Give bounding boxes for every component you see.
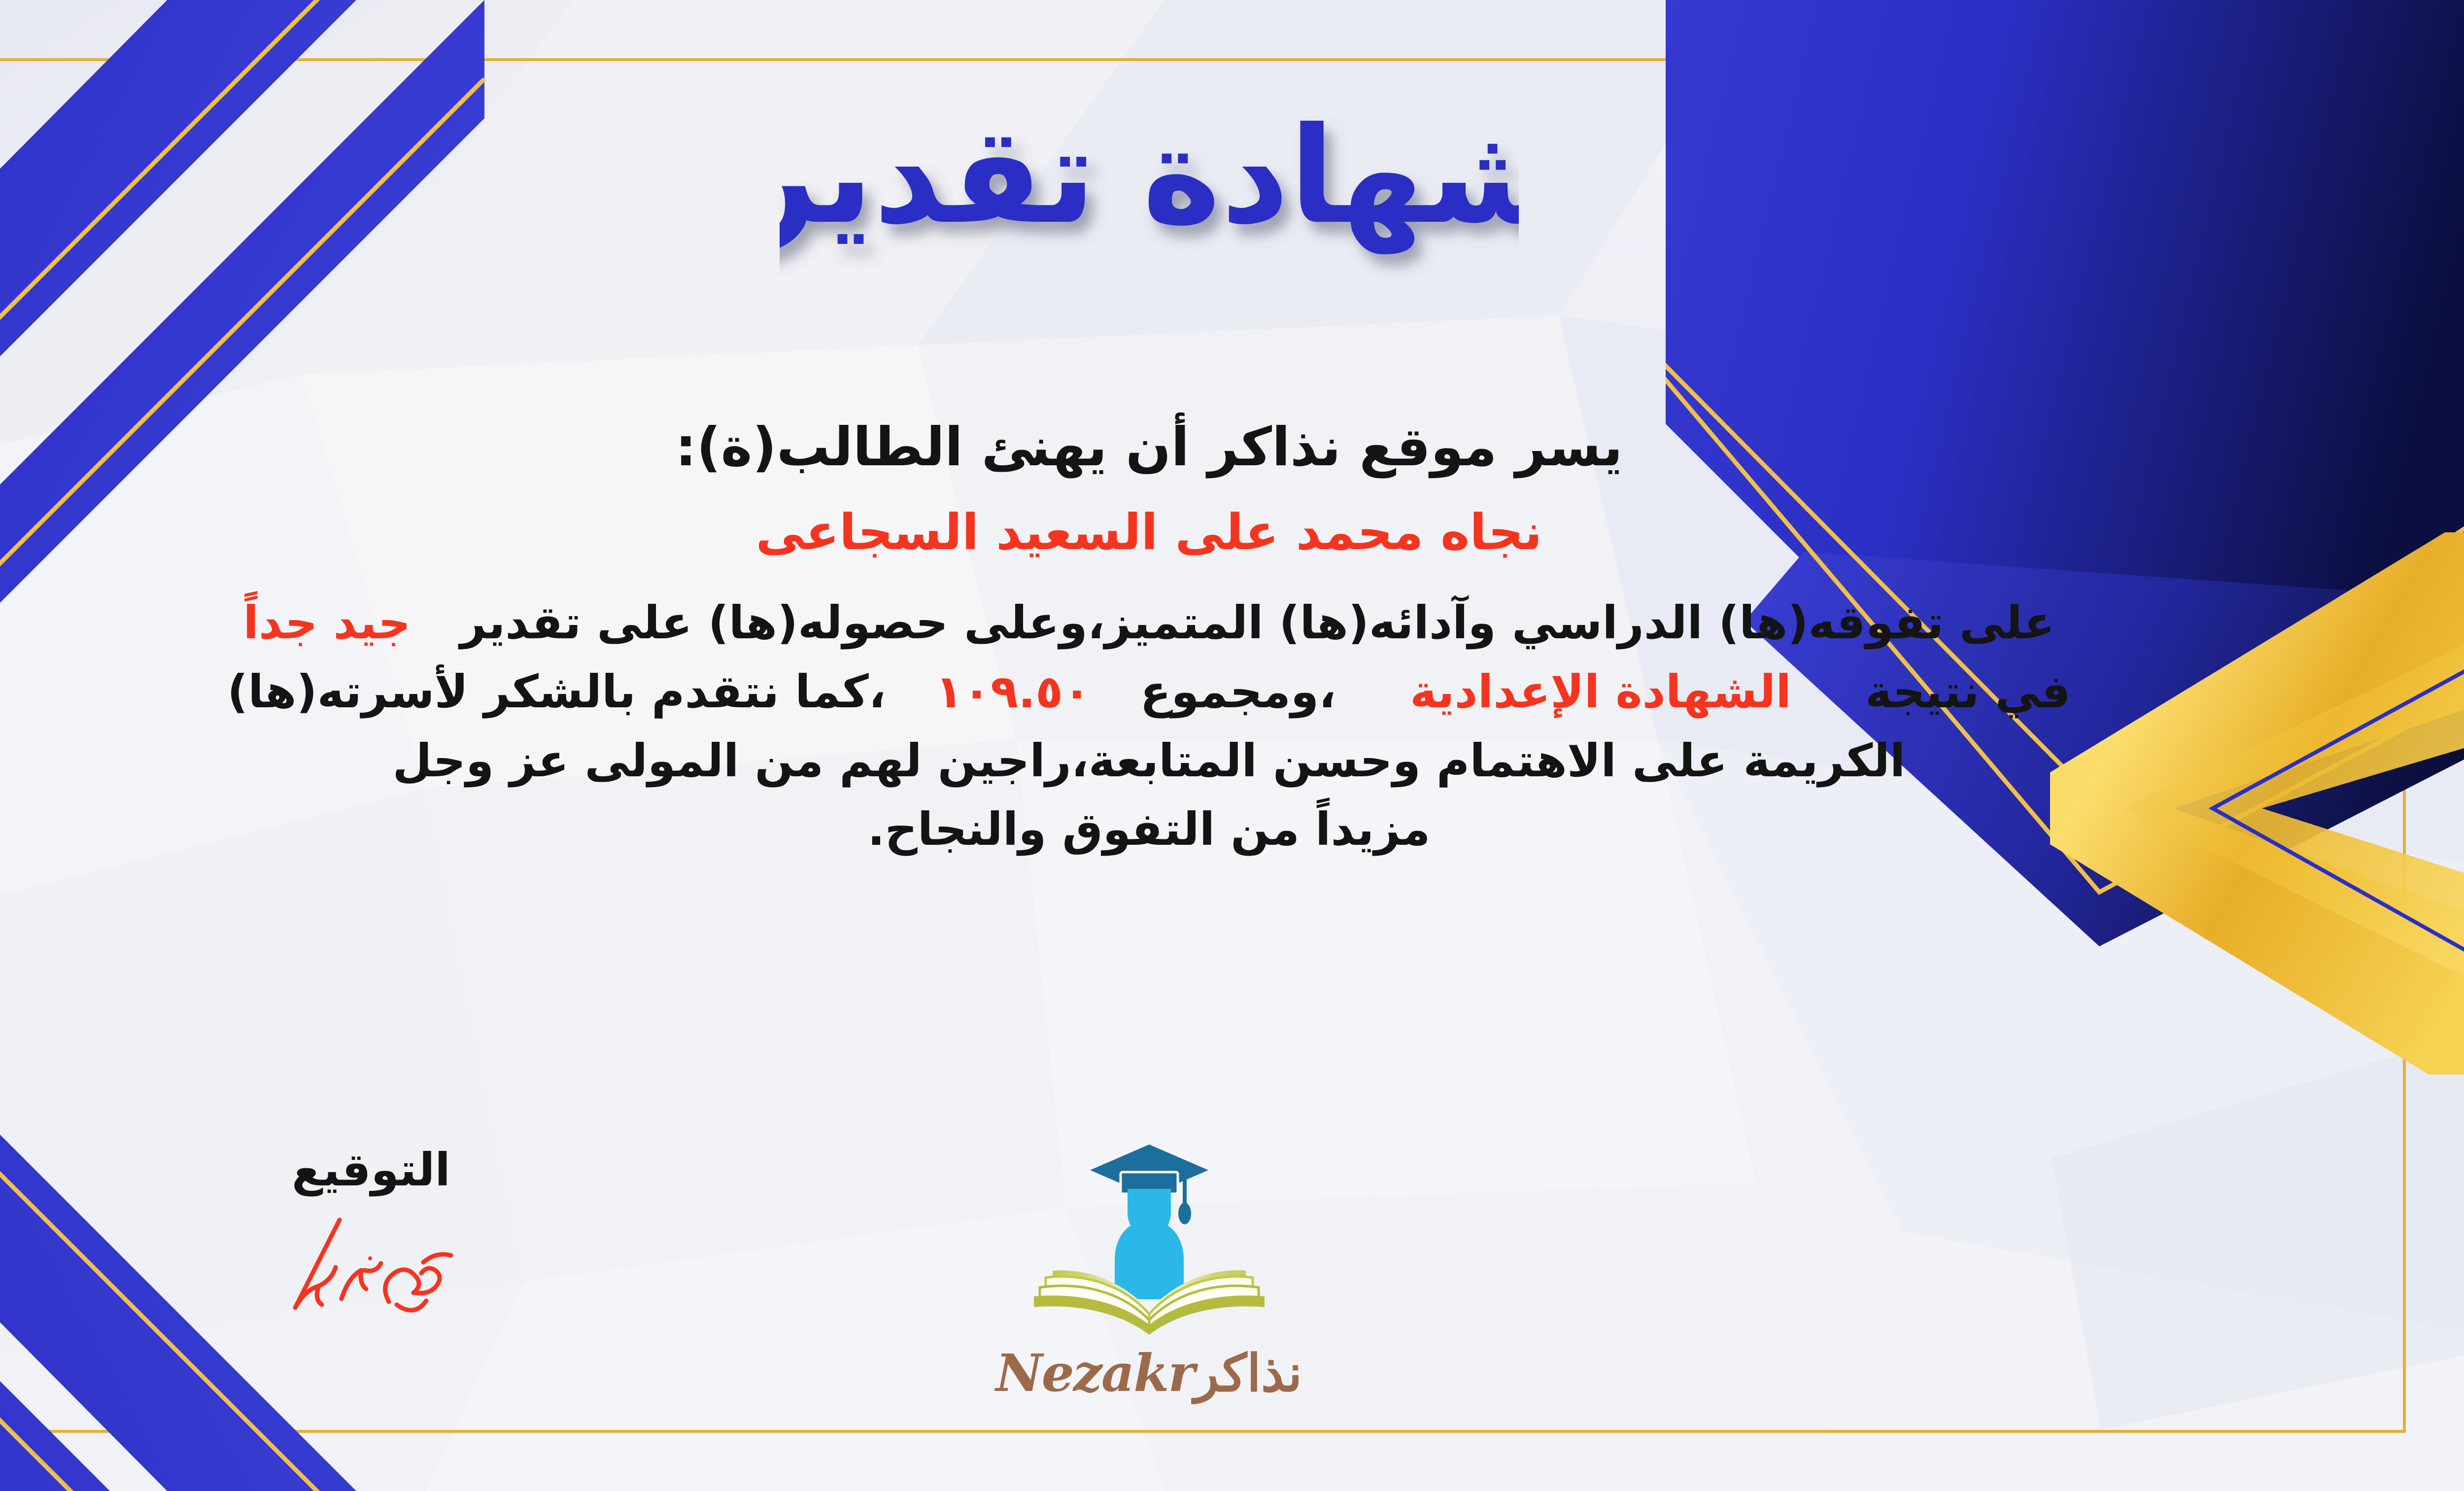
- student-figure-icon: [1115, 1189, 1184, 1299]
- paragraph-line2-prefix: في نتيجة: [1865, 665, 2071, 718]
- signature-label: التوقيع: [218, 1144, 524, 1196]
- certificate-canvas: شهادة تقدير يسر موقع نذاكر أن يهنئ الطال…: [0, 0, 2464, 1491]
- total-score: ١٠٩.٥٠: [935, 665, 1091, 718]
- paragraph-line2-suffix: ،كما نتقدم بالشكر لأسرته(ها): [227, 665, 886, 718]
- paragraph-line1-text: على تفوقه(ها) الدراسي وآدائه(ها) المتميز…: [460, 596, 2054, 649]
- paragraph-line2-mid: ،ومجموع: [1140, 665, 1336, 718]
- certificate-title-wrap: شهادة تقدير: [0, 74, 2464, 283]
- certificate-body: يسر موقع نذاكر أن يهنئ الطالب(ة): نجاه م…: [0, 414, 2316, 864]
- logo-wordmark: نذاكرNezakr: [927, 1343, 1371, 1403]
- paragraph-line-4: مزيداً من التفوق والنجاح.: [0, 795, 2316, 864]
- signature-mark: [218, 1211, 524, 1324]
- paragraph-line-3: الكريمة على الاهتمام وحسن المتابعة،راجين…: [0, 727, 2316, 796]
- handwritten-signature-icon: [268, 1211, 475, 1324]
- intro-line: يسر موقع نذاكر أن يهنئ الطالب(ة):: [0, 414, 2316, 481]
- nezakr-logo-icon: [1011, 1134, 1287, 1341]
- site-logo-block: نذاكرNezakr: [927, 1134, 1371, 1403]
- logo-arabic-name: نذاكر: [1194, 1343, 1302, 1403]
- paragraph-line-2: في نتيجةالشهادة الإعدادية،ومجموع١٠٩.٥٠،ك…: [0, 658, 2316, 727]
- grade-value: جيد جداً: [243, 596, 411, 649]
- certificate-title-calligraphy: شهادة تقدير: [780, 74, 1519, 281]
- paragraph-line-1: على تفوقه(ها) الدراسي وآدائه(ها) المتميز…: [0, 589, 2316, 658]
- title-text: شهادة تقدير: [780, 98, 1519, 255]
- logo-latin-name: Nezakr: [996, 1343, 1195, 1403]
- signature-block: التوقيع: [218, 1144, 524, 1324]
- body-paragraph: على تفوقه(ها) الدراسي وآدائه(ها) المتميز…: [0, 589, 2316, 864]
- exam-name: الشهادة الإعدادية: [1410, 665, 1791, 718]
- student-name: نجاه محمد على السعيد السجاعى: [0, 501, 2316, 563]
